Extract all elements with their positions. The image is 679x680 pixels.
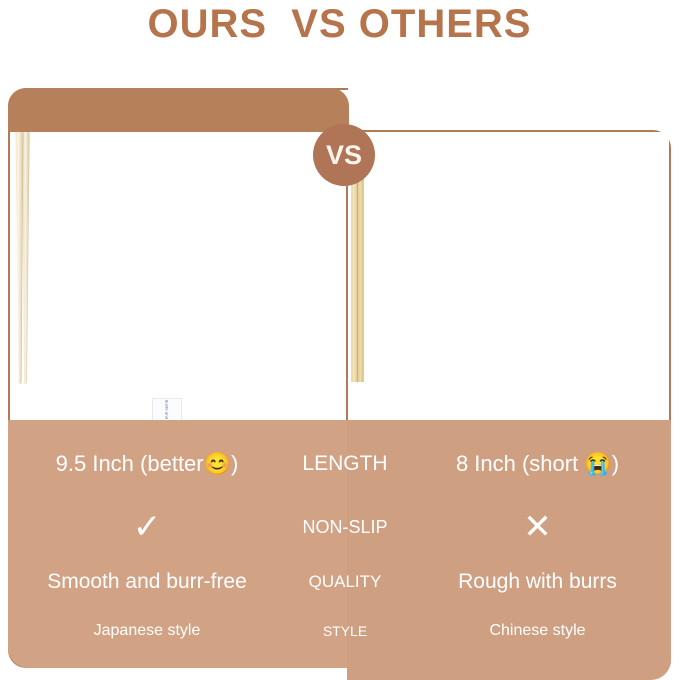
attribute-quality: QUALITY	[286, 572, 404, 592]
ours-panel-header-bar	[8, 88, 349, 132]
others-length-value: 8 Inch (short 😭)	[404, 451, 671, 477]
ours-product-photo: Sushi and Noodle	[10, 132, 346, 420]
others-quality-value: Rough with burrs	[404, 570, 671, 594]
vs-badge: VS	[313, 124, 375, 186]
ours-style-value: Japanese style	[8, 622, 286, 640]
comparison-infographic: OURS VS OTHERS	[0, 0, 679, 680]
product-paper-label: Sushi and Noodle	[152, 398, 182, 420]
long-chopsticks-icon	[10, 132, 36, 384]
product-label-text: Sushi and Noodle	[165, 400, 170, 420]
ours-nonslip-checkmark-icon: ✓	[8, 510, 286, 544]
attribute-non-slip: NON-SLIP	[286, 517, 404, 538]
table-row: ✓ NON-SLIP ✕	[8, 504, 671, 550]
attribute-style: STYLE	[286, 623, 404, 639]
attribute-length: LENGTH	[286, 452, 404, 476]
comparison-table: 9.5 Inch (better😊) LENGTH 8 Inch (short …	[8, 420, 671, 680]
ours-quality-value: Smooth and burr-free	[8, 570, 286, 594]
table-row: Japanese style STYLE Chinese style	[8, 616, 671, 646]
ours-length-value: 9.5 Inch (better😊)	[8, 451, 286, 477]
page-title: OURS VS OTHERS	[0, 2, 679, 47]
table-row: Smooth and burr-free QUALITY Rough with …	[8, 565, 671, 599]
others-nonslip-cross-icon: ✕	[404, 510, 671, 544]
others-style-value: Chinese style	[404, 622, 671, 640]
others-product-photo	[349, 132, 669, 420]
table-row: 9.5 Inch (better😊) LENGTH 8 Inch (short …	[8, 442, 671, 486]
